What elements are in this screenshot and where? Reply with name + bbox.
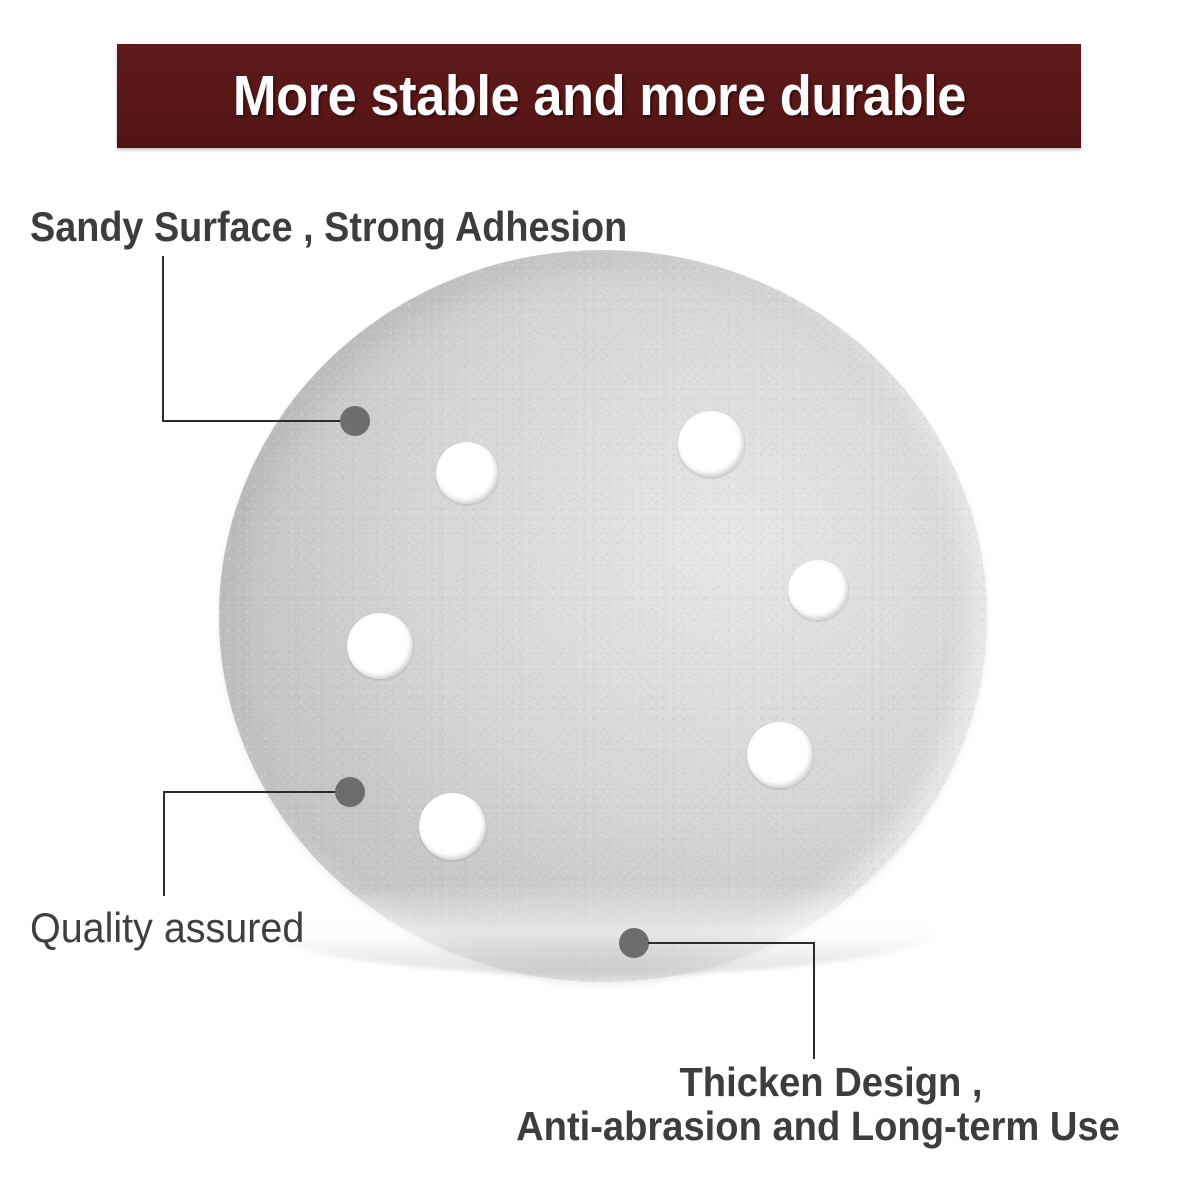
callout-leader-vertical xyxy=(813,942,815,1059)
callout-dot-thicken-design xyxy=(619,928,649,958)
product-infographic-page: More stable and more durable Sandy Surfa… xyxy=(0,0,1200,1200)
callout-leader-vertical xyxy=(162,256,164,422)
disc-hole xyxy=(747,722,813,788)
callout-leader-horizontal xyxy=(648,942,815,944)
disc-hole xyxy=(436,442,498,504)
callout-label-quality-assured: Quality assured xyxy=(30,905,304,950)
callout-leader-horizontal xyxy=(163,791,351,793)
disc-body xyxy=(219,250,987,982)
banner-headline-bar: More stable and more durable xyxy=(117,44,1081,148)
callout-dot-quality-assured xyxy=(335,777,365,807)
disc-hole xyxy=(419,793,486,860)
disc-hole xyxy=(678,411,744,477)
callout-label-thicken-design: Thicken Design , Anti-abrasion and Long-… xyxy=(468,1060,1168,1149)
callout-label-line-2: Anti-abrasion and Long-term Use xyxy=(493,1104,1144,1148)
sanding-disc-image xyxy=(219,250,987,982)
callout-label-line-1: Thicken Design , xyxy=(493,1060,1144,1104)
callout-dot-sandy-surface xyxy=(340,406,370,436)
banner-title: More stable and more durable xyxy=(232,68,965,125)
callout-leader-vertical xyxy=(163,791,165,896)
callout-leader-horizontal xyxy=(162,420,356,422)
disc-hole xyxy=(347,613,413,679)
disc-hole xyxy=(788,560,848,620)
callout-label-sandy-surface: Sandy Surface , Strong Adhesion xyxy=(30,204,627,249)
